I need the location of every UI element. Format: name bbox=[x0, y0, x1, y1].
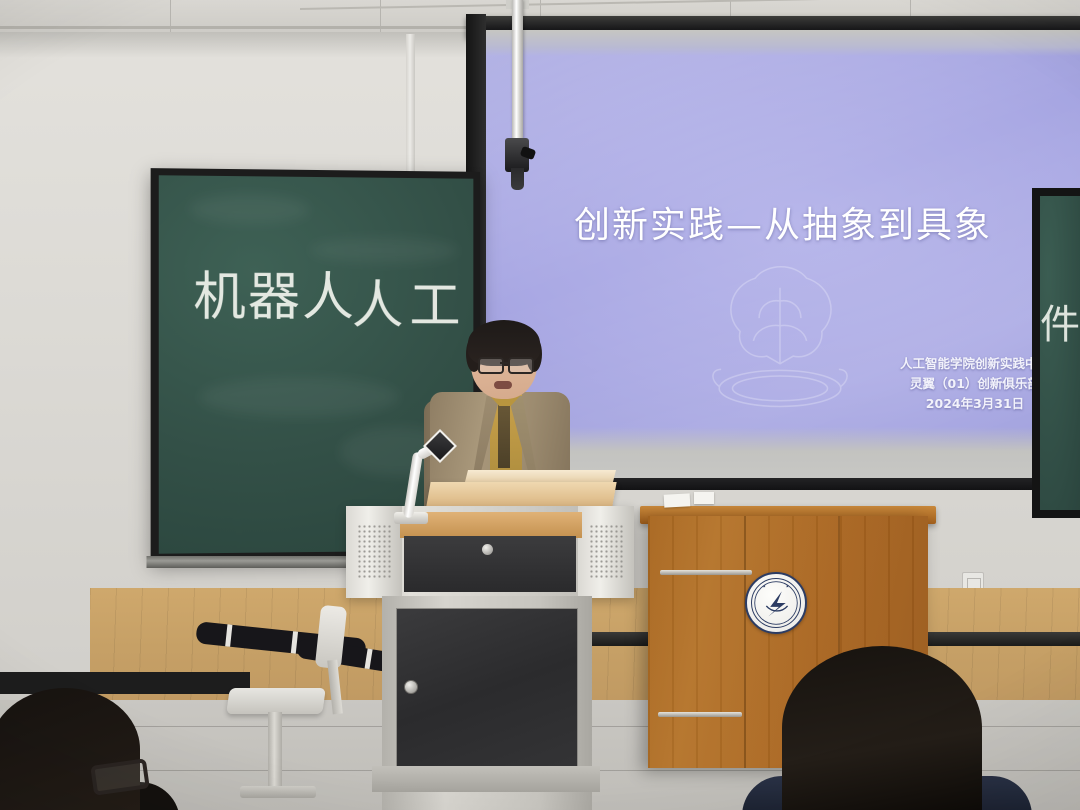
university-seal-emblem: ★★ bbox=[745, 572, 807, 634]
seal-inner-ring bbox=[751, 578, 801, 628]
speaker-grille-right-icon bbox=[589, 524, 623, 580]
speaker-glasses-right-lens-icon bbox=[508, 357, 534, 374]
slide-title: 创新实践—从抽象到具象 bbox=[486, 196, 1080, 248]
speaker-grille-left-icon bbox=[357, 524, 391, 580]
slide-subtitle-org: 人工智能学院创新实践中心 bbox=[900, 354, 1050, 374]
slide-subtitle: 人工智能学院创新实践中心 灵翼（01）创新俱乐部 2024年3月31日 bbox=[900, 354, 1050, 414]
podium-handle-bottom[interactable] bbox=[658, 712, 742, 717]
lectern-base-plinth bbox=[372, 766, 600, 792]
ceiling-pole bbox=[512, 0, 523, 150]
baseboard-left bbox=[0, 672, 250, 694]
lectern-speaker-right bbox=[578, 506, 634, 598]
note-card-2 bbox=[694, 492, 714, 504]
projection-screen[interactable]: 创新实践—从抽象到具象 人工智能学院创新实践中心 灵翼（01）创新俱乐部 202… bbox=[486, 30, 1080, 485]
lectern-door-lock-icon[interactable] bbox=[482, 544, 493, 555]
screen-top-band bbox=[486, 30, 1080, 56]
blackboard-chalk-text-1: 机器人 bbox=[193, 254, 356, 330]
lecture-hall-photo: 创新实践—从抽象到具象 人工智能学院创新实践中心 灵翼（01）创新俱乐部 202… bbox=[0, 0, 1080, 810]
chair-post bbox=[268, 712, 282, 788]
slide-watermark-icon bbox=[682, 244, 878, 434]
podium-seam-1 bbox=[744, 516, 746, 768]
slide-subtitle-date: 2024年3月31日 bbox=[900, 394, 1050, 414]
lectern-cabinet-door[interactable] bbox=[396, 608, 578, 774]
camera-housing-tail bbox=[511, 168, 524, 190]
note-card-1 bbox=[664, 493, 691, 507]
chair-base bbox=[240, 786, 316, 798]
blackboard-right-chalk-text: 件 bbox=[1040, 292, 1080, 350]
blackboard-right bbox=[1040, 196, 1080, 510]
audience-member-right bbox=[782, 646, 982, 810]
slide-subtitle-club: 灵翼（01）创新俱乐部 bbox=[900, 374, 1050, 394]
speaker-glasses-bridge bbox=[500, 362, 508, 364]
podium-handle-top[interactable] bbox=[660, 570, 752, 575]
speaker-tie bbox=[498, 398, 510, 468]
lectern-cabinet-lock-icon[interactable] bbox=[404, 680, 418, 694]
chair-seat[interactable] bbox=[226, 688, 326, 714]
blackboard-chalk-text-2: 人工 bbox=[352, 263, 467, 338]
speaker-mouth bbox=[494, 381, 512, 389]
speaker-glasses-left-lens-icon bbox=[478, 357, 504, 374]
